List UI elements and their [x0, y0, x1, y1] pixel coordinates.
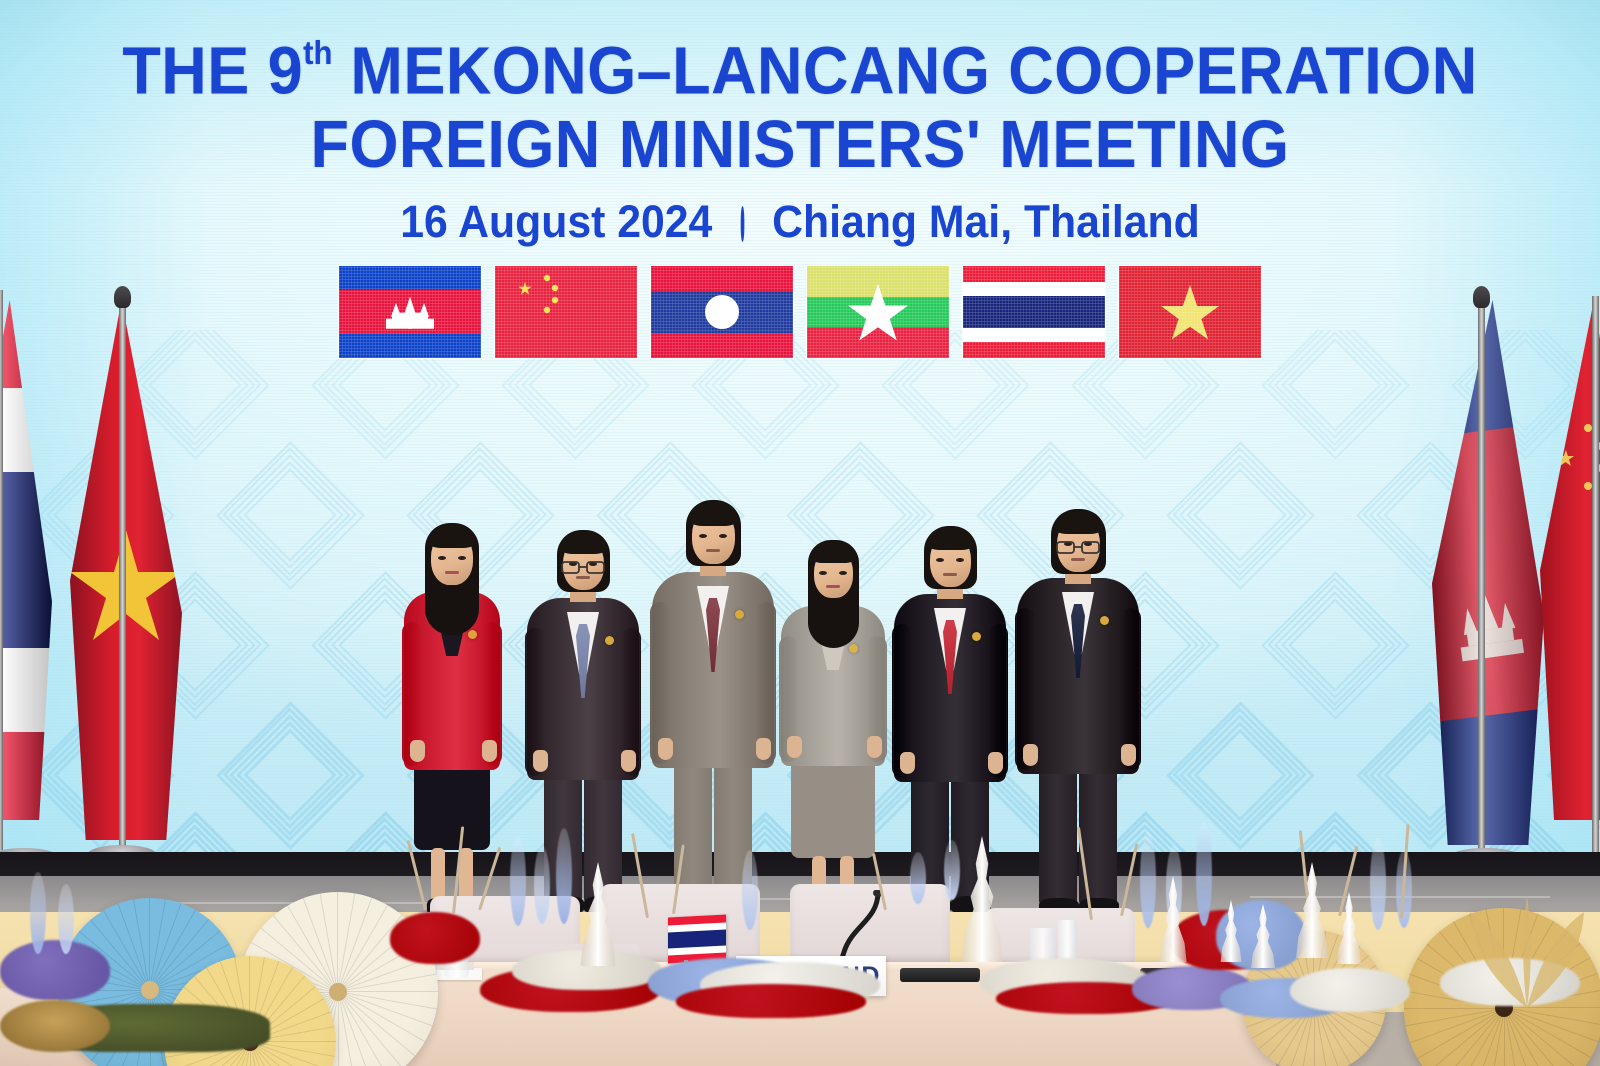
delegate-6	[0, 0, 1600, 900]
floral-red-back-left	[390, 912, 480, 964]
floral-red-center	[676, 984, 866, 1018]
floral-white-far-right	[1290, 968, 1410, 1012]
delphinium-stalk-4	[742, 850, 758, 930]
pagoda-ornament-3	[1292, 862, 1332, 958]
delphinium-stalk-2	[534, 846, 550, 924]
delphinium-stalk-7	[1196, 822, 1212, 926]
umbrella-hub	[141, 981, 159, 999]
gold-basket	[0, 1000, 110, 1052]
delegate-6-lapel-pin	[1100, 616, 1109, 625]
pagoda-ornament-5	[1156, 876, 1190, 962]
delegate-6-trouser-1	[1039, 752, 1077, 904]
umbrella-rib	[337, 892, 338, 992]
umbrella-rib	[338, 991, 438, 992]
delegate-6-mouth	[1071, 558, 1085, 561]
delphinium-stalk-10	[30, 872, 46, 954]
desk-band-red-top	[668, 914, 726, 925]
delegate-6-hand-1	[1023, 744, 1038, 766]
delphinium-stalk-5	[1140, 832, 1156, 928]
delphinium-stalk-11	[58, 884, 74, 954]
desk-flag-thailand	[668, 914, 726, 963]
delegate-6-hair-front	[1054, 511, 1103, 534]
conference-photo-scene: THE 9th MEKONG–LANCANG COOPERATION FOREI…	[0, 0, 1600, 1066]
pagoda-ornament-7	[1248, 904, 1278, 968]
umbrella-rib	[149, 898, 150, 990]
delegate-6-glasses	[1056, 539, 1100, 555]
desk-band-navy	[668, 930, 726, 949]
pagoda-ornament-1	[576, 862, 620, 966]
delegate-6-hand-2	[1121, 744, 1136, 766]
golden-leaf-fan	[1452, 890, 1600, 1010]
pagoda-ornament-6	[1218, 900, 1244, 962]
mic-base	[900, 968, 980, 982]
delphinium-stalk-1	[510, 836, 526, 926]
pagoda-ornament-4	[1334, 892, 1364, 964]
floral-purple-left-edge	[0, 940, 110, 1000]
delphinium-stalk-13	[910, 852, 926, 904]
umbrella-rib	[338, 992, 339, 1066]
pagoda-ornament-2	[956, 836, 1008, 962]
delphinium-stalk-3	[556, 828, 572, 924]
delphinium-stalk-8	[1370, 838, 1386, 930]
umbrella-hub	[329, 983, 347, 1001]
